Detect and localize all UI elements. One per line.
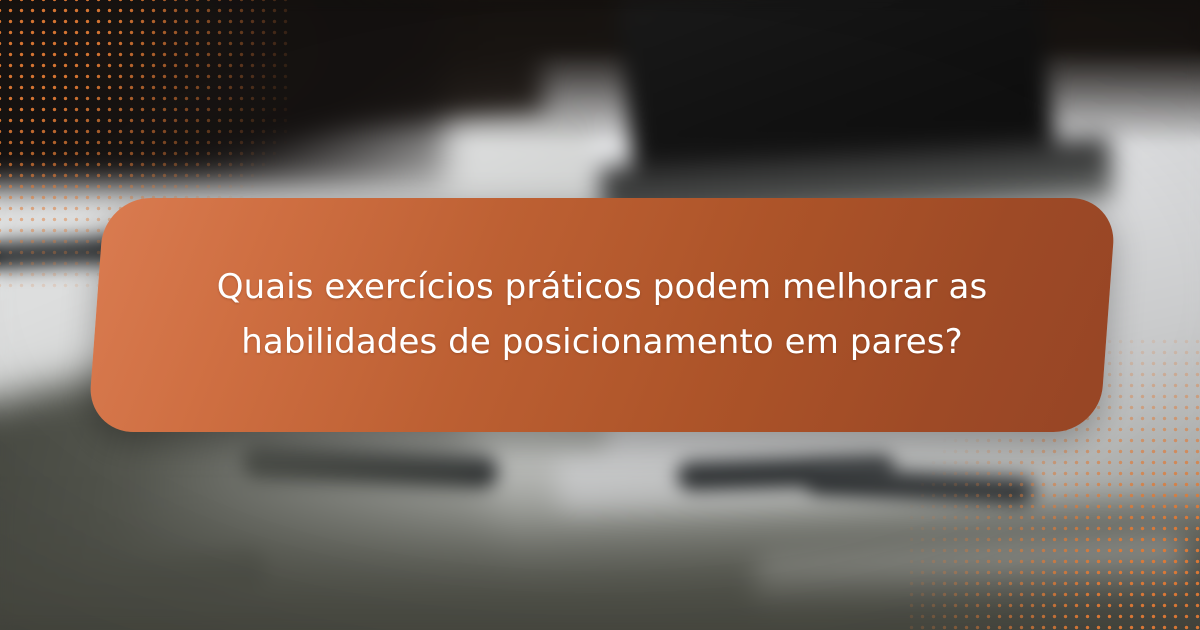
question-card: Quais exercícios práticos podem melhorar…: [96, 198, 1108, 432]
question-line-2: habilidades de posicionamento em pares?: [241, 315, 963, 370]
question-card-text: Quais exercícios práticos podem melhorar…: [96, 198, 1108, 432]
question-line-1: Quais exercícios práticos podem melhorar…: [217, 260, 988, 315]
quote-card-canvas: Quais exercícios práticos podem melhorar…: [0, 0, 1200, 630]
